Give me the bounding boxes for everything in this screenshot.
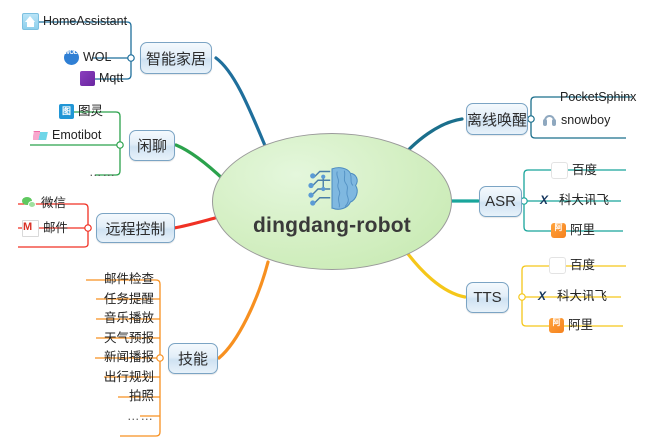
emotibot-icon	[33, 128, 48, 143]
center-node[interactable]: dingdang-robot	[212, 133, 452, 270]
edge-skills	[219, 262, 268, 358]
mindmap-canvas: dingdang-robot 智能家居 闲聊 远程控制 技能 离线唤醒 ASR …	[0, 0, 650, 441]
leaf-skill-task-reminder[interactable]: 任务提醒	[86, 290, 154, 308]
leaf-skill-trip-planning[interactable]: 出行规划	[86, 368, 154, 386]
leaf-chat-more[interactable]: ……	[89, 163, 116, 181]
leaf-label: 微信	[41, 194, 66, 212]
leaf-tts-ali[interactable]: 阿 阿里	[549, 316, 593, 334]
leaf-emotibot[interactable]: Emotibot	[33, 126, 101, 144]
brain-circuit-icon	[304, 166, 360, 212]
branch-node-smart-home[interactable]: 智能家居	[140, 42, 212, 74]
leaf-label: ……	[89, 163, 116, 181]
wechat-icon	[22, 196, 37, 211]
leaf-label: WOL	[83, 48, 111, 66]
leaf-label: 百度	[570, 256, 595, 274]
leaf-mqtt[interactable]: Mqtt	[80, 69, 123, 87]
baidu-icon	[549, 257, 566, 274]
leaf-label: 科大讯飞	[559, 191, 609, 209]
leaf-tts-baidu[interactable]: 百度	[549, 256, 595, 274]
branch-label-skills: 技能	[178, 348, 208, 369]
leaf-label: 新闻播报	[104, 348, 154, 366]
baidu-icon	[551, 162, 568, 179]
leaf-label: Mqtt	[99, 69, 123, 87]
leaf-skill-more[interactable]: ……	[86, 407, 154, 425]
leaf-label: 任务提醒	[104, 290, 154, 308]
center-label: dingdang-robot	[253, 214, 411, 238]
leaf-label: 图灵	[78, 102, 103, 120]
homeassistant-icon	[22, 13, 39, 30]
leaf-label: 邮件	[43, 219, 68, 237]
leaf-snowboy[interactable]: snowboy	[542, 111, 610, 129]
leaf-label: 阿里	[570, 221, 595, 239]
leaf-tts-xunfei[interactable]: X 科大讯飞	[538, 287, 607, 305]
leaf-email[interactable]: M 邮件	[22, 219, 68, 237]
leaf-skill-weather[interactable]: 天气预报	[86, 329, 154, 347]
branch-label-offline-wakeup: 离线唤醒	[467, 109, 527, 130]
leaf-label: 出行规划	[104, 368, 154, 386]
leaf-tuling[interactable]: 图 图灵	[59, 102, 103, 120]
leaf-pocketsphinx[interactable]: PocketSphinx	[560, 88, 636, 106]
branch-label-remote-control: 远程控制	[105, 218, 165, 239]
edge-chat	[176, 145, 224, 180]
branch-label-smart-home: 智能家居	[146, 48, 206, 69]
leaf-label: 拍照	[129, 387, 154, 405]
branch-label-asr: ASR	[485, 193, 516, 210]
leaf-wechat[interactable]: 微信	[22, 194, 66, 212]
leaf-wol[interactable]: WOL WOL	[64, 48, 111, 66]
edge-remote-control	[174, 218, 215, 228]
leaf-label: HomeAssistant	[43, 12, 127, 30]
branch-node-offline-wakeup[interactable]: 离线唤醒	[466, 103, 528, 135]
gmail-icon: M	[22, 220, 39, 237]
leaf-label: 科大讯飞	[557, 287, 607, 305]
leaf-label: PocketSphinx	[560, 88, 636, 106]
wol-icon: WOL	[64, 50, 79, 65]
leaf-label: 音乐播放	[104, 309, 154, 327]
mqtt-icon	[80, 71, 95, 86]
leaf-skill-news[interactable]: 新闻播报	[86, 348, 154, 366]
leaf-label: 邮件检查	[104, 270, 154, 288]
leaf-label: ……	[127, 407, 154, 425]
leaf-skill-photo[interactable]: 拍照	[86, 387, 154, 405]
xunfei-icon: X	[538, 289, 553, 304]
leaf-asr-ali[interactable]: 阿 阿里	[551, 221, 595, 239]
headphone-icon	[542, 113, 557, 128]
leaf-label: 天气预报	[104, 329, 154, 347]
ali-icon: 阿	[549, 318, 564, 333]
leaf-label: 百度	[572, 161, 597, 179]
branch-node-chat[interactable]: 闲聊	[129, 130, 175, 161]
leaf-label: snowboy	[561, 111, 610, 129]
branch-node-skills[interactable]: 技能	[168, 343, 218, 374]
branch-node-tts[interactable]: TTS	[466, 282, 509, 313]
tuling-icon: 图	[59, 104, 74, 119]
leaf-homeassistant[interactable]: HomeAssistant	[22, 12, 127, 30]
leaf-label: 阿里	[568, 316, 593, 334]
leaf-label: Emotibot	[52, 126, 101, 144]
branch-label-tts: TTS	[473, 289, 501, 306]
branch-label-chat: 闲聊	[137, 135, 167, 156]
branch-node-remote-control[interactable]: 远程控制	[96, 213, 175, 243]
ali-icon: 阿	[551, 223, 566, 238]
leaf-asr-xunfei[interactable]: X 科大讯飞	[540, 191, 609, 209]
leaf-skill-music-play[interactable]: 音乐播放	[86, 309, 154, 327]
leaf-skill-mail-check[interactable]: 邮件检查	[86, 270, 154, 288]
branch-node-asr[interactable]: ASR	[479, 186, 522, 217]
leaf-asr-baidu[interactable]: 百度	[551, 161, 597, 179]
xunfei-icon: X	[540, 193, 555, 208]
edge-smart-home	[216, 58, 266, 148]
